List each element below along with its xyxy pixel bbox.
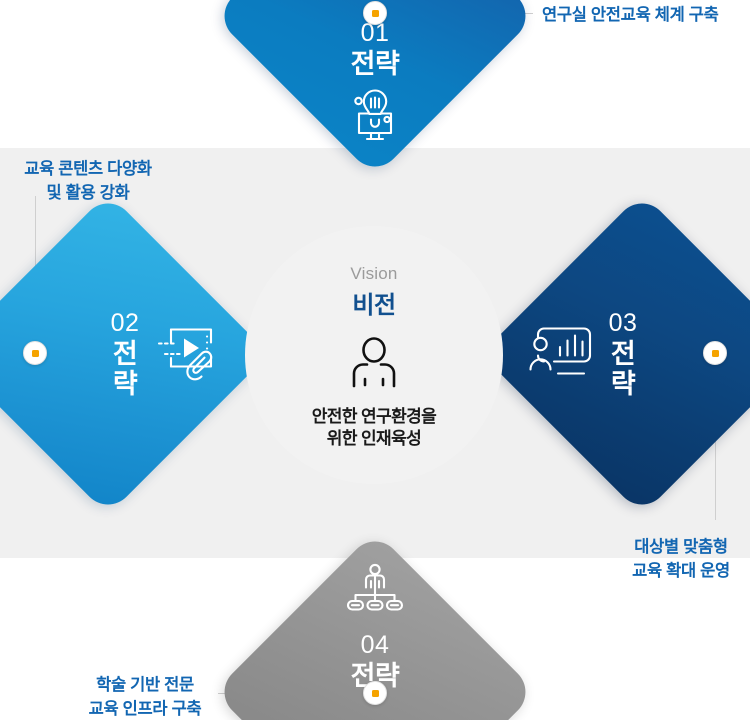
org-chart-icon: [346, 563, 404, 623]
diamond-text: 02 전략: [111, 309, 140, 399]
connector-dot-04: [363, 681, 387, 705]
connector-dot-03: [703, 341, 727, 365]
vision-label-ko: 비전: [352, 285, 395, 320]
callout-label-04: 학술 기반 전문 교육 인프라 구축: [80, 674, 210, 720]
monitor-lightbulb-icon: [345, 88, 405, 151]
video-paperclip-icon: [153, 321, 223, 388]
strategy-word: 전략: [608, 339, 638, 399]
strategy-word: 전략: [351, 49, 400, 79]
diamond-text: 03 전략: [608, 309, 638, 399]
person-barchart-icon: [528, 322, 594, 387]
vision-circle: Vision 비전 안전한 연구환경을 위한 인재육성: [245, 226, 503, 484]
vision-description: 안전한 연구환경을 위한 인재육성: [312, 406, 436, 451]
callout-label-01: 연구실 안전교육 체계 구축: [542, 4, 719, 28]
person-icon: [346, 336, 402, 397]
dot-core: [372, 10, 379, 17]
connector-dot-02: [23, 341, 47, 365]
strategy-number: 02: [111, 309, 140, 337]
callout-label-03: 대상별 맞춤형 교육 확대 운영: [617, 536, 745, 584]
strategy-number: 04: [351, 631, 400, 659]
diamond-text: 01 전략: [351, 19, 400, 79]
strategy-number: 03: [608, 309, 638, 337]
connector-dot-01: [363, 1, 387, 25]
dot-core: [372, 690, 379, 697]
vision-label-en: Vision: [350, 264, 397, 284]
strategy-diagram: 연구실 안전교육 체계 구축 교육 콘텐츠 다양화 및 활용 강화 대상별 맞춤…: [0, 0, 750, 720]
dot-core: [32, 350, 39, 357]
callout-label-02: 교육 콘텐츠 다양화 및 활용 강화: [8, 158, 168, 206]
dot-core: [712, 350, 719, 357]
strategy-word: 전략: [111, 339, 140, 399]
